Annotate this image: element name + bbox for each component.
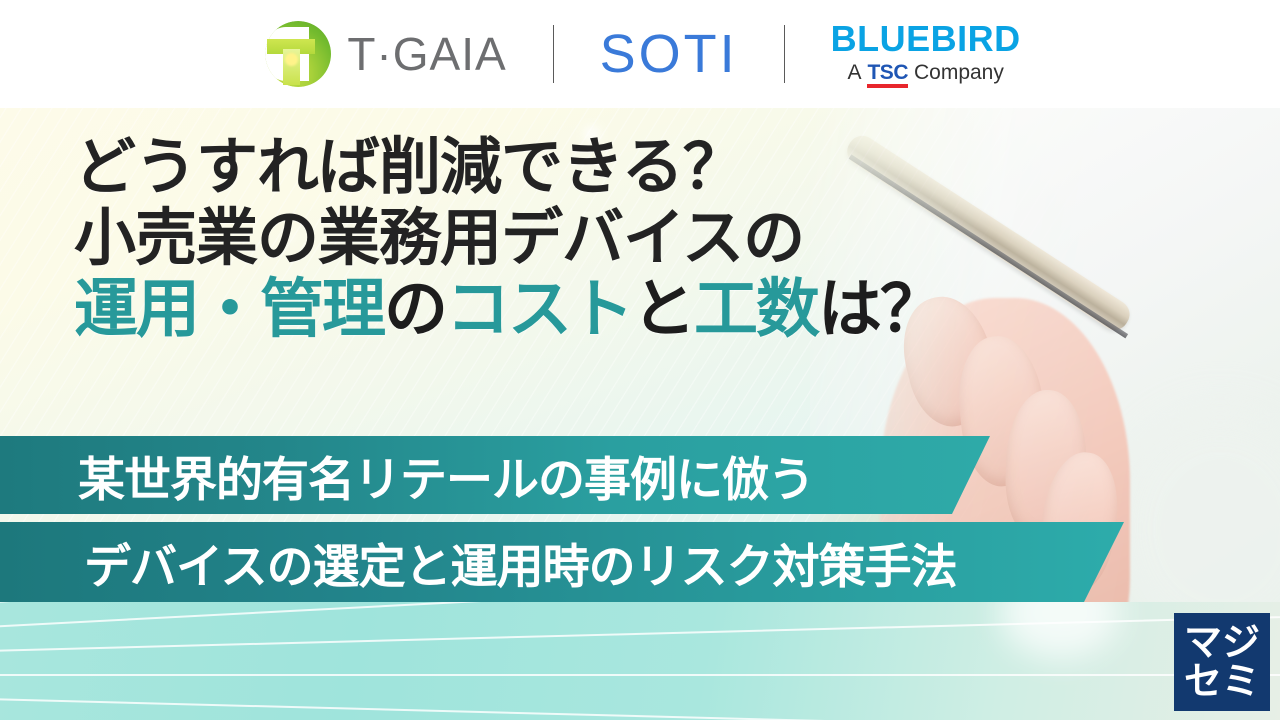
headline-line-3: 運用・管理のコストと工数は？ xyxy=(74,276,942,345)
headline: どうすれば削減できる？ 小売業の業務用デバイスの 運用・管理のコストと工数は？ xyxy=(74,134,942,349)
headline-line-2: 小売業の業務用デバイスの xyxy=(74,205,942,272)
majisemi-badge-line-1: マジ xyxy=(1184,623,1260,662)
tgaia-leaf-t-icon xyxy=(259,19,333,89)
soti-wordmark: SOTI xyxy=(600,27,738,81)
bluebird-tagline-prefix: A xyxy=(847,62,861,83)
bluebird-tagline-suffix: Company xyxy=(914,62,1004,83)
logo-bluebird: BLUEBIRD A TSC Company xyxy=(831,21,1021,88)
headline-accent-cost: コスト xyxy=(446,273,632,347)
subtitle-banner-1: 某世界的有名リテールの事例に倣う xyxy=(0,436,990,514)
headline-particle-to: と xyxy=(632,273,694,347)
headline-accent-kousuu: 工数 xyxy=(694,273,818,347)
majisemi-badge-line-2: セミ xyxy=(1184,662,1260,701)
bluebird-wordmark: BLUEBIRD xyxy=(831,21,1021,57)
logo-divider-2 xyxy=(784,25,785,83)
majisemi-badge[interactable]: マジ セミ xyxy=(1174,613,1270,711)
subtitle-banner-2-text: デバイスの選定と運用時のリスク対策手法 xyxy=(84,528,957,597)
headline-accent-unyou-kanri: 運用・管理 xyxy=(74,273,384,347)
webinar-poster: T·GAIA SOTI BLUEBIRD A TSC Company xyxy=(0,0,1280,720)
subtitle-banner-1-text: 某世界的有名リテールの事例に倣う xyxy=(78,441,814,510)
footer-strip xyxy=(0,602,1280,720)
logo-tgaia: T·GAIA xyxy=(259,19,506,89)
tsc-wordmark: TSC xyxy=(867,62,908,88)
logo-soti: SOTI xyxy=(600,27,738,81)
partner-logo-bar: T·GAIA SOTI BLUEBIRD A TSC Company xyxy=(0,0,1280,108)
logo-divider-1 xyxy=(553,25,554,83)
tgaia-wordmark: T·GAIA xyxy=(347,31,506,77)
headline-suffix-wa: は？ xyxy=(818,273,942,347)
subtitle-banner-2: デバイスの選定と運用時のリスク対策手法 xyxy=(0,522,1124,602)
headline-line-1: どうすれば削減できる？ xyxy=(74,134,942,201)
headline-particle-no: の xyxy=(384,273,446,347)
